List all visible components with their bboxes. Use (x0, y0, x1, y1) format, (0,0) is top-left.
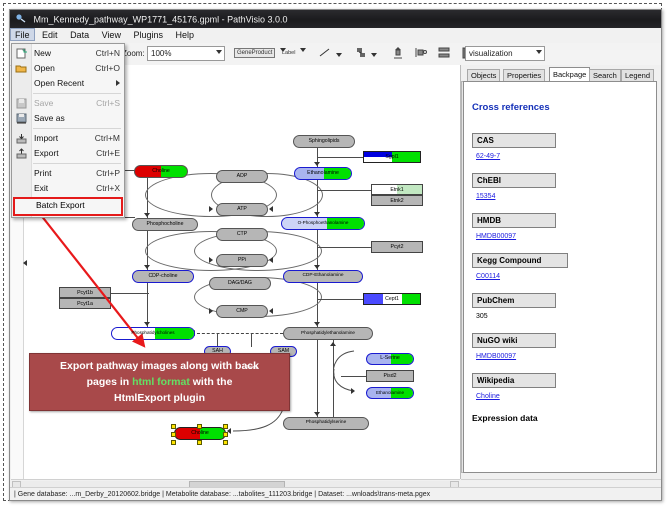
file-menu-item-import[interactable]: Import Ctrl+M (12, 131, 124, 146)
arrow-icon (144, 213, 150, 217)
selection-handle[interactable] (171, 432, 176, 437)
metabolite-node-ppi[interactable]: PPi (216, 254, 268, 267)
node-label: Pcyt1b (77, 290, 93, 296)
node-label: Ethanolamine (376, 391, 404, 396)
tab-backpage[interactable]: Backpage (549, 67, 590, 81)
xref-value-chebi[interactable]: 15354 (476, 193, 648, 200)
file-menu-item-open[interactable]: Open Ctrl+O (12, 61, 124, 76)
node-label: Pcyt2 (391, 244, 404, 250)
node-label: Etnk1 (390, 187, 403, 193)
expression-data-heading: Expression data (472, 413, 648, 423)
gene-node-pcyt1b[interactable]: Pcyt1b (59, 287, 111, 298)
callout-line-2-highlight: html format (132, 376, 190, 388)
node-label: Phosphatidylcholines (131, 331, 174, 336)
menu-plugins[interactable]: Plugins (128, 28, 168, 41)
align-top-button[interactable] (392, 47, 404, 61)
pathvisio-application-window: Mm_Kennedy_pathway_WP1771_45176.gpml - P… (9, 9, 662, 501)
menubar: File Edit Data View Plugins Help (10, 28, 661, 44)
datanode-tool-button[interactable]: GeneProduct (234, 47, 286, 61)
file-menu-label-print: Print (34, 168, 51, 178)
gene-node-etnk2[interactable]: Etnk2 (371, 195, 423, 206)
node-label: Phosphocholine (147, 222, 184, 227)
arrow-icon (209, 308, 213, 314)
zoom-combobox[interactable]: 100% (147, 46, 225, 61)
node-label: Etnk2 (390, 198, 403, 204)
selection-handle[interactable] (223, 424, 228, 429)
file-menu-label-export: Export (34, 148, 59, 158)
node-label: L-Serine (380, 356, 400, 361)
node-label: ATP (237, 207, 247, 212)
file-menu-label-new: New (34, 48, 51, 58)
file-menu-label-save: Save (34, 98, 53, 108)
menu-data[interactable]: Data (65, 28, 94, 41)
node-label: Cept1 (385, 296, 399, 302)
selection-handle[interactable] (223, 440, 228, 445)
side-panel-tabstrip: Objects Properties Backpage Search Legen… (461, 67, 661, 81)
node-label: SAH (212, 349, 223, 354)
selection-handle[interactable] (171, 440, 176, 445)
metabolite-node-phosphatidylcholines[interactable]: Phosphatidylcholines (111, 327, 195, 340)
xref-value-nugo-wiki[interactable]: HMDB00097 (476, 353, 648, 360)
file-menu-shortcut-export: Ctrl+E (96, 146, 120, 161)
selection-handle[interactable] (223, 432, 228, 437)
callout-line-2-prefix: pages in (87, 376, 133, 388)
file-menu-item-exit[interactable]: Exit Ctrl+X (12, 181, 124, 196)
file-menu-dropdown[interactable]: New Ctrl+N Open Ctrl+O Open Recent Save (11, 43, 125, 218)
selection-handle[interactable] (197, 424, 202, 429)
line-tool-button[interactable] (318, 47, 342, 61)
arrow-icon (314, 322, 320, 326)
chevron-down-icon (371, 53, 377, 57)
file-menu-shortcut-save: Ctrl+S (96, 96, 120, 111)
file-menu-label-save-as: Save as (34, 113, 65, 123)
xref-value-cas[interactable]: 62-49-7 (476, 153, 648, 160)
node-label: CDP-Ethanolamine (302, 274, 343, 279)
save-disk-icon (15, 98, 28, 109)
label-tool-button[interactable]: Label (282, 47, 306, 61)
diagonal-line-icon (318, 47, 332, 59)
arrow-icon (351, 388, 355, 394)
file-menu-label-open-recent: Open Recent (34, 78, 84, 88)
statusbar: | Gene database: ...m_Derby_20120602.bri… (10, 487, 661, 500)
gene-node-pisd2[interactable]: Pisd2 (366, 370, 414, 382)
gene-node-pcyt2[interactable]: Pcyt2 (371, 241, 423, 253)
xref-header-pubchem: PubChem (472, 293, 556, 308)
xref-value-pubchem: 305 (476, 313, 648, 320)
label-tool-label: Label (282, 50, 295, 56)
metabolite-node-ethanolamine-2[interactable]: Ethanolamine (366, 387, 414, 399)
node-label: Phosphatidylserine (306, 421, 347, 426)
gene-node-sgpl1[interactable]: Sgpl1 (363, 151, 421, 163)
new-file-icon (15, 48, 28, 59)
metabolite-node-ctp[interactable]: CTP (216, 228, 268, 241)
node-label: Choline (191, 431, 209, 436)
node-label: O-Phosphoethanolamine (298, 221, 349, 226)
submenu-arrow-icon (116, 80, 120, 86)
gene-node-cept1[interactable]: Cept1 (363, 293, 421, 305)
callout-line-1: Export pathway images along with back (60, 360, 259, 372)
expression-third (364, 294, 383, 304)
node-label: CDP-choline (148, 274, 177, 279)
metabolite-node-dag[interactable]: DAG/DAG (209, 277, 271, 290)
chevron-down-icon (300, 48, 306, 52)
node-label: Phosphatidylethanolamine (301, 331, 355, 336)
gene-node-etnk1[interactable]: Etnk1 (371, 184, 423, 195)
arrow-icon (314, 162, 320, 166)
window-titlebar: Mm_Kennedy_pathway_WP1771_45176.gpml - P… (10, 10, 661, 28)
screenshot-frame: Mm_Kennedy_pathway_WP1771_45176.gpml - P… (0, 0, 670, 509)
arrow-icon (269, 257, 273, 263)
node-label: Pemt (245, 365, 257, 371)
open-folder-icon (15, 63, 28, 74)
stack-vertical-icon (438, 47, 450, 59)
arrow-icon (144, 265, 150, 269)
metabolite-node-phosphatidylserine[interactable]: Phosphatidylserine (283, 417, 369, 430)
file-menu-item-export[interactable]: Export Ctrl+E (12, 146, 124, 161)
save-as-icon (15, 113, 28, 124)
backpage-heading: Cross references (472, 102, 648, 113)
datanode-tool-label: GeneProduct (234, 48, 275, 58)
file-menu-item-new[interactable]: New Ctrl+N (12, 46, 124, 61)
node-label: DAG/DAG (228, 281, 252, 286)
annotation-callout: Export pathway images along with back pa… (29, 353, 290, 411)
file-menu-item-batch-export[interactable]: Batch Export (13, 197, 123, 216)
tab-search[interactable]: Search (589, 69, 621, 81)
arrow-icon (23, 260, 27, 266)
menu-separator (33, 93, 121, 94)
metabolite-node-cmp[interactable]: CMP (216, 305, 268, 318)
file-menu-label-exit: Exit (34, 183, 48, 193)
import-icon (15, 133, 28, 144)
pathvisio-app-icon (15, 12, 27, 23)
chevron-down-icon (336, 53, 342, 57)
zoom-value: 100% (151, 49, 171, 58)
gene-node-pcyt1a[interactable]: Pcyt1a (59, 298, 111, 309)
node-label: Pisd2 (384, 373, 397, 379)
file-menu-shortcut-open: Ctrl+O (95, 61, 120, 76)
align-top-icon (392, 47, 404, 60)
file-menu-item-save-as[interactable]: Save as (12, 111, 124, 126)
selection-handle[interactable] (171, 424, 176, 429)
xref-value-wikipedia[interactable]: Choline (476, 393, 648, 400)
arrow-icon (209, 257, 213, 263)
menu-separator (33, 128, 121, 129)
menu-separator (33, 163, 121, 164)
expression-third (402, 294, 420, 304)
node-label: Choline (152, 169, 170, 174)
window-title: Mm_Kennedy_pathway_WP1771_45176.gpml - P… (34, 15, 288, 25)
visualization-combobox[interactable]: visualization (465, 46, 545, 61)
export-icon (15, 148, 28, 159)
align-left-icon (414, 47, 427, 59)
file-menu-shortcut-exit: Ctrl+X (96, 181, 120, 196)
selection-handle[interactable] (197, 440, 202, 445)
callout-line-3: HtmlExport plugin (114, 392, 205, 404)
align-left-button[interactable] (414, 47, 427, 61)
menu-edit[interactable]: Edit (37, 28, 63, 41)
file-menu-item-open-recent[interactable]: Open Recent (12, 76, 124, 91)
file-menu-shortcut-new: Ctrl+N (96, 46, 120, 61)
tab-objects[interactable]: Objects (467, 69, 500, 81)
menu-help[interactable]: Help (171, 28, 200, 41)
node-label: CTP (237, 232, 247, 237)
node-label: CMP (236, 309, 248, 314)
edge (317, 190, 373, 191)
node-label: Sphingolipids (309, 139, 340, 144)
metabolite-node-o-phosphoethanolamine[interactable]: O-Phosphoethanolamine (281, 217, 365, 230)
metabolite-node-choline[interactable]: Choline (134, 165, 188, 178)
file-menu-shortcut-import: Ctrl+M (95, 131, 120, 146)
edge (317, 340, 318, 418)
metabolite-node-phosphatidylethanolamine[interactable]: Phosphatidylethanolamine (283, 327, 373, 340)
node-label: Sgpl1 (385, 154, 398, 160)
metabolite-node-ethanolamine[interactable]: Ethanolamine (294, 167, 352, 180)
connector-shape-icon (355, 47, 367, 59)
zoom-label: Zoom: (122, 49, 145, 58)
callout-line-2-suffix: with the (190, 376, 233, 388)
node-label: Ethanolamine (307, 171, 339, 176)
xref-header-cas: CAS (472, 133, 556, 148)
node-label: ADP (237, 174, 248, 179)
file-menu-label-open: Open (34, 63, 55, 73)
file-menu-label-batch-export: Batch Export (36, 200, 85, 210)
node-label: PPi (238, 258, 246, 263)
arrow-icon (314, 412, 320, 416)
shape-tool-button[interactable] (355, 47, 377, 61)
metabolite-node-cdp-ethanolamine[interactable]: CDP-Ethanolamine (283, 270, 363, 283)
metabolite-node-sphingolipids[interactable]: Sphingolipids (293, 135, 355, 148)
metabolite-node-phosphocholine[interactable]: Phosphocholine (132, 218, 198, 231)
metabolite-node-adp[interactable]: ADP (216, 170, 268, 183)
stack-vertical-button[interactable] (438, 47, 450, 61)
file-menu-item-print[interactable]: Print Ctrl+P (12, 166, 124, 181)
arrow-icon (269, 308, 273, 314)
file-menu-shortcut-print: Ctrl+P (96, 166, 120, 181)
metabolite-node-cdp-choline[interactable]: CDP-choline (132, 270, 194, 283)
arrow-icon (314, 212, 320, 216)
metabolite-node-l-serine[interactable]: L-Serine (366, 353, 414, 365)
file-menu-label-import: Import (34, 133, 58, 143)
tab-properties[interactable]: Properties (503, 69, 545, 81)
edge (317, 299, 365, 300)
chevron-down-icon (216, 50, 222, 54)
xref-header-hmdb: HMDB (472, 213, 556, 228)
xref-header-nugo-wiki: NuGO wiki (472, 333, 556, 348)
metabolite-node-atp[interactable]: ATP (216, 203, 268, 216)
chevron-down-icon (536, 50, 542, 54)
edge (251, 333, 252, 347)
arrow-icon (269, 206, 273, 212)
xref-value-kegg-compound[interactable]: C00114 (476, 273, 648, 280)
side-panel: Objects Properties Backpage Search Legen… (461, 65, 661, 479)
tab-legend[interactable]: Legend (621, 69, 654, 81)
arrow-icon (314, 265, 320, 269)
edge (111, 293, 149, 294)
edge (217, 333, 218, 347)
node-label: Pcyt1a (77, 301, 93, 307)
node-label: SAM (278, 349, 289, 354)
edge (317, 247, 373, 248)
edge (317, 157, 365, 158)
xref-value-hmdb[interactable]: HMDB00097 (476, 233, 648, 240)
xref-header-wikipedia: Wikipedia (472, 373, 556, 388)
edge-dashed (197, 333, 283, 334)
arrow-icon (209, 206, 213, 212)
xref-header-kegg-compound: Kegg Compound (472, 253, 568, 268)
menu-file[interactable]: File (10, 28, 35, 41)
arrow-icon (144, 322, 150, 326)
menu-view[interactable]: View (97, 28, 126, 41)
xref-header-chebi: ChEBI (472, 173, 556, 188)
file-menu-item-save[interactable]: Save Ctrl+S (12, 96, 124, 111)
visualization-value: visualization (469, 49, 513, 58)
arrow-icon (330, 342, 336, 346)
statusbar-text: | Gene database: ...m_Derby_20120602.bri… (14, 491, 430, 498)
backpage-scroll-area[interactable]: Cross references CAS 62-49-7 ChEBI 15354… (463, 81, 657, 473)
